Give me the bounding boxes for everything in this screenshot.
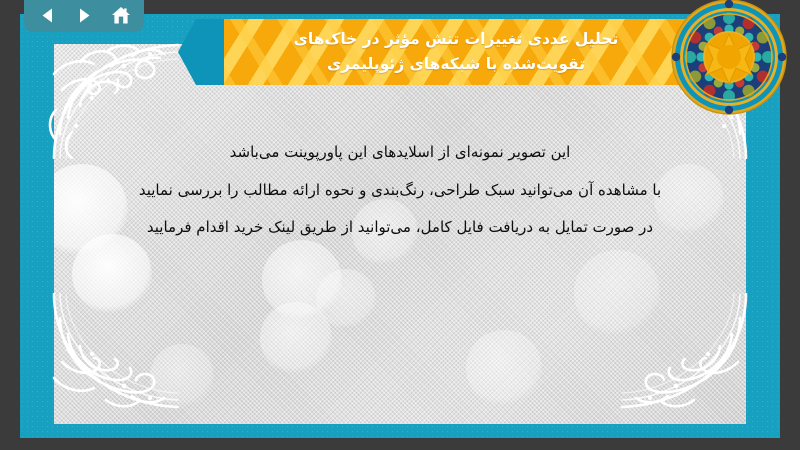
next-slide-button[interactable] [71, 3, 97, 27]
left-triangle-icon [39, 7, 56, 24]
slide-body-text: این تصویر نمونه‌ای از اسلایدهای این پاور… [20, 134, 780, 247]
home-button[interactable] [108, 3, 134, 27]
presentation-viewer: این تصویر نمونه‌ای از اسلایدهای این پاور… [0, 0, 800, 450]
title-line-2: تقویت‌شده با شبکه‌های ژئوپلیمری [327, 52, 585, 77]
bokeh-circle [150, 344, 214, 408]
persian-mandala-medallion [670, 0, 788, 116]
body-line-1: این تصویر نمونه‌ای از اسلایدهای این پاور… [68, 134, 732, 172]
navigation-bar [24, 0, 144, 32]
bokeh-circle [316, 269, 376, 329]
slide-title-banner: تحلیل عددی تغییرات تنش مؤثر در خاک‌های ت… [224, 19, 704, 85]
title-line-1: تحلیل عددی تغییرات تنش مؤثر در خاک‌های [294, 27, 619, 52]
home-icon [111, 6, 131, 25]
previous-slide-button[interactable] [34, 3, 60, 27]
right-triangle-icon [76, 7, 93, 24]
bokeh-circle [574, 250, 660, 336]
body-line-3: در صورت تمایل به دریافت فایل کامل، می‌تو… [68, 209, 732, 247]
bokeh-circle [466, 330, 542, 406]
slide-title: تحلیل عددی تغییرات تنش مؤثر در خاک‌های ت… [224, 19, 704, 85]
body-line-2: با مشاهده آن می‌توانید سبک طراحی، رنگ‌بن… [68, 172, 732, 210]
banner-pennant [178, 19, 226, 85]
